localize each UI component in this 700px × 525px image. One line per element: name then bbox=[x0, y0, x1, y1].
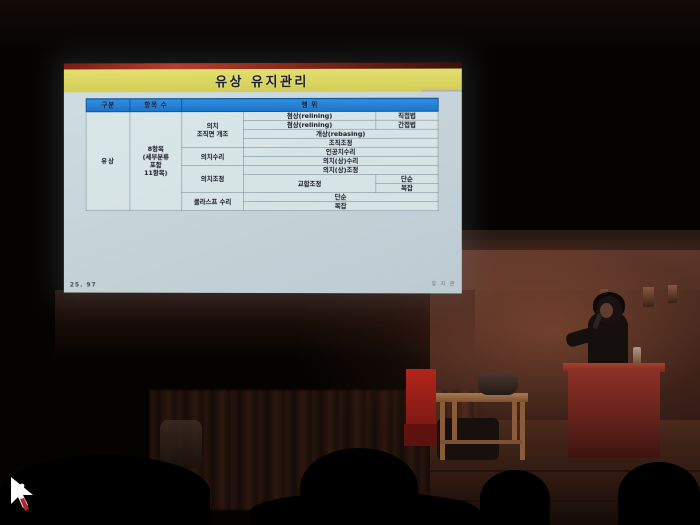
wall-frame bbox=[668, 285, 677, 303]
stage-drum bbox=[160, 420, 202, 468]
cell-sub: 간접법 bbox=[376, 120, 438, 129]
stage-table-leg bbox=[512, 400, 517, 444]
slide-title: 유상 유지관리 bbox=[215, 71, 309, 90]
cell-category: 의치수리 bbox=[182, 148, 244, 166]
audience-head bbox=[480, 470, 550, 525]
cell-category: 클라스프 수리 bbox=[182, 192, 244, 210]
cell-gubun: 유상 bbox=[86, 112, 130, 211]
cursor-watermark-icon bbox=[8, 473, 42, 513]
stage-dark-object bbox=[437, 418, 499, 460]
cell-action: 첨상(relining) bbox=[244, 111, 376, 120]
cell-sub: 복잡 bbox=[376, 184, 438, 193]
lecture-hall-scene: ck 유상 유지관리 구분 항목 수 행 위 bbox=[0, 0, 700, 525]
header-count: 항목 수 bbox=[130, 99, 182, 112]
audience-head bbox=[618, 462, 700, 525]
cell-category: 의치조직면 개조 bbox=[182, 112, 244, 148]
red-box-base bbox=[404, 424, 438, 446]
stage-pot bbox=[478, 373, 518, 395]
podium: ck bbox=[568, 368, 660, 458]
stage-table-leg bbox=[452, 400, 457, 444]
cell-action: 의치(상)수리 bbox=[244, 156, 439, 165]
stage-table-brace bbox=[440, 440, 522, 444]
cell-action: 조직조정 bbox=[244, 138, 439, 147]
stage-table-leg bbox=[440, 402, 445, 460]
audience-shoulders bbox=[250, 492, 480, 525]
header-action: 행 위 bbox=[182, 98, 439, 111]
screen-shadow bbox=[55, 290, 475, 360]
cell-sub: 단순 bbox=[376, 174, 438, 183]
slide-corner-mark: 유 지 관 bbox=[432, 280, 456, 287]
red-equipment-box bbox=[406, 369, 436, 427]
slide-title-band: 유상 유지관리 bbox=[64, 69, 462, 93]
cell-action: 의치(상)조정 bbox=[244, 165, 439, 174]
maintenance-table: 구분 항목 수 행 위 유상 8항목(세부분류포함11항목) 의치조직면 개조 … bbox=[86, 98, 439, 211]
cell-sub: 직접법 bbox=[376, 111, 438, 120]
cell-action: 개상(rebasing) bbox=[244, 129, 439, 138]
projected-slide: 유상 유지관리 구분 항목 수 행 위 유상 bbox=[64, 63, 462, 294]
cell-count: 8항목(세부분류포함11항목) bbox=[130, 112, 182, 211]
cell-action: 교합조정 bbox=[244, 174, 376, 192]
cell-action: 단순 bbox=[244, 192, 439, 201]
header-gubun: 구분 bbox=[86, 99, 130, 112]
table-header-row: 구분 항목 수 행 위 bbox=[86, 98, 438, 112]
stage-table-leg bbox=[520, 402, 525, 460]
table-row: 유상 8항목(세부분류포함11항목) 의치조직면 개조 첨상(relining)… bbox=[86, 111, 438, 120]
cell-action: 복잡 bbox=[244, 201, 439, 210]
cell-action: 첨상(relining) bbox=[244, 120, 376, 129]
slide-page-mark: 25. 97 bbox=[70, 282, 97, 289]
wall-frame bbox=[643, 287, 654, 307]
ceiling-shadow bbox=[0, 0, 700, 48]
slide-body: 구분 항목 수 행 위 유상 8항목(세부분류포함11항목) 의치조직면 개조 … bbox=[64, 92, 462, 294]
table-body: 유상 8항목(세부분류포함11항목) 의치조직면 개조 첨상(relining)… bbox=[86, 111, 438, 210]
cell-category: 의치조정 bbox=[182, 166, 244, 193]
cell-action: 인공치수리 bbox=[244, 147, 439, 156]
